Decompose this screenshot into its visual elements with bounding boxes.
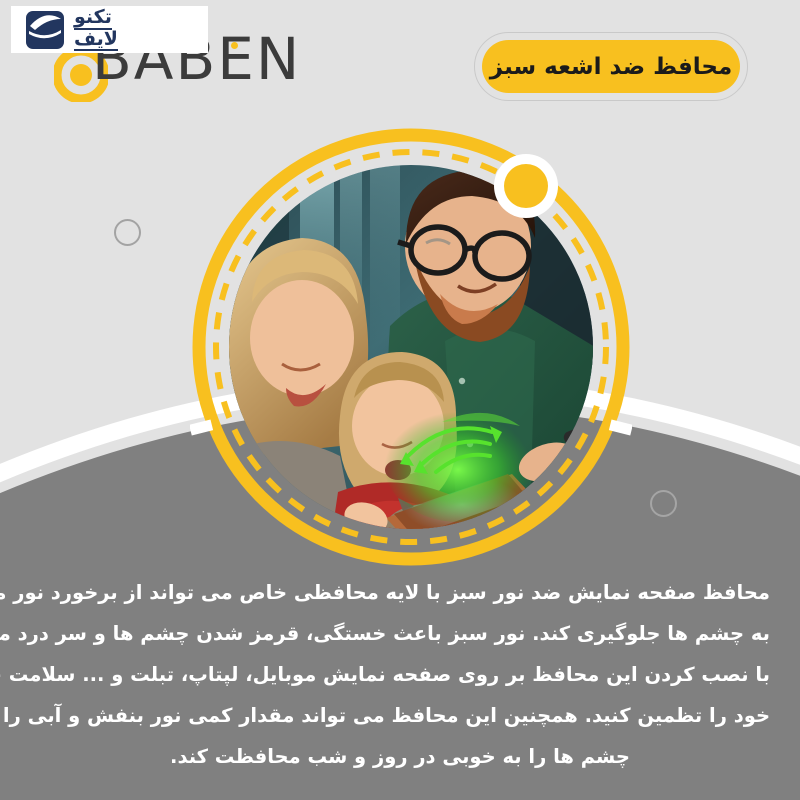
product-badge-ring: محافظ ضد اشعه سبز [474, 32, 748, 101]
ring-gap-right [609, 419, 632, 435]
description-text: محافظ صفحه نمایش ضد نور سبز با لایه محاف… [30, 572, 770, 777]
techno-life-watermark: تکنو لایف [11, 6, 208, 53]
product-banner: BABEN تکنو لایف محافظ ضد اشعه سبز [0, 0, 800, 800]
yellow-accent-dot [494, 154, 558, 218]
outline-circle-decoration-left [114, 219, 141, 246]
green-light-rays-overlay [384, 406, 532, 522]
outline-circle-decoration-right [650, 490, 677, 517]
brand-accent-dot-icon [231, 42, 238, 49]
hero-photo-rings [190, 126, 632, 568]
ring-gap-left [190, 419, 213, 435]
description-line: چشم ها را به خوبی در روز و شب محافظت کند… [30, 736, 770, 777]
product-badge[interactable]: محافظ ضد اشعه سبز [482, 40, 740, 93]
description-line: با نصب کردن این محافظ بر روی صفحه نمایش … [30, 654, 770, 695]
techno-life-logo-icon [25, 10, 65, 50]
description-line: محافظ صفحه نمایش ضد نور سبز با لایه محاف… [30, 572, 770, 613]
watermark-line-2: لایف [74, 30, 118, 51]
description-line: به چشم ها جلوگیری کند. نور سبز باعث خستگ… [30, 613, 770, 654]
description-line: خود را تظمین کنید. همچنین این محافظ می ت… [30, 695, 770, 736]
watermark-text: تکنو لایف [74, 8, 118, 51]
yellow-dot-icon [504, 164, 548, 208]
watermark-line-1: تکنو [74, 8, 112, 29]
hero-photo-composition [190, 126, 632, 568]
